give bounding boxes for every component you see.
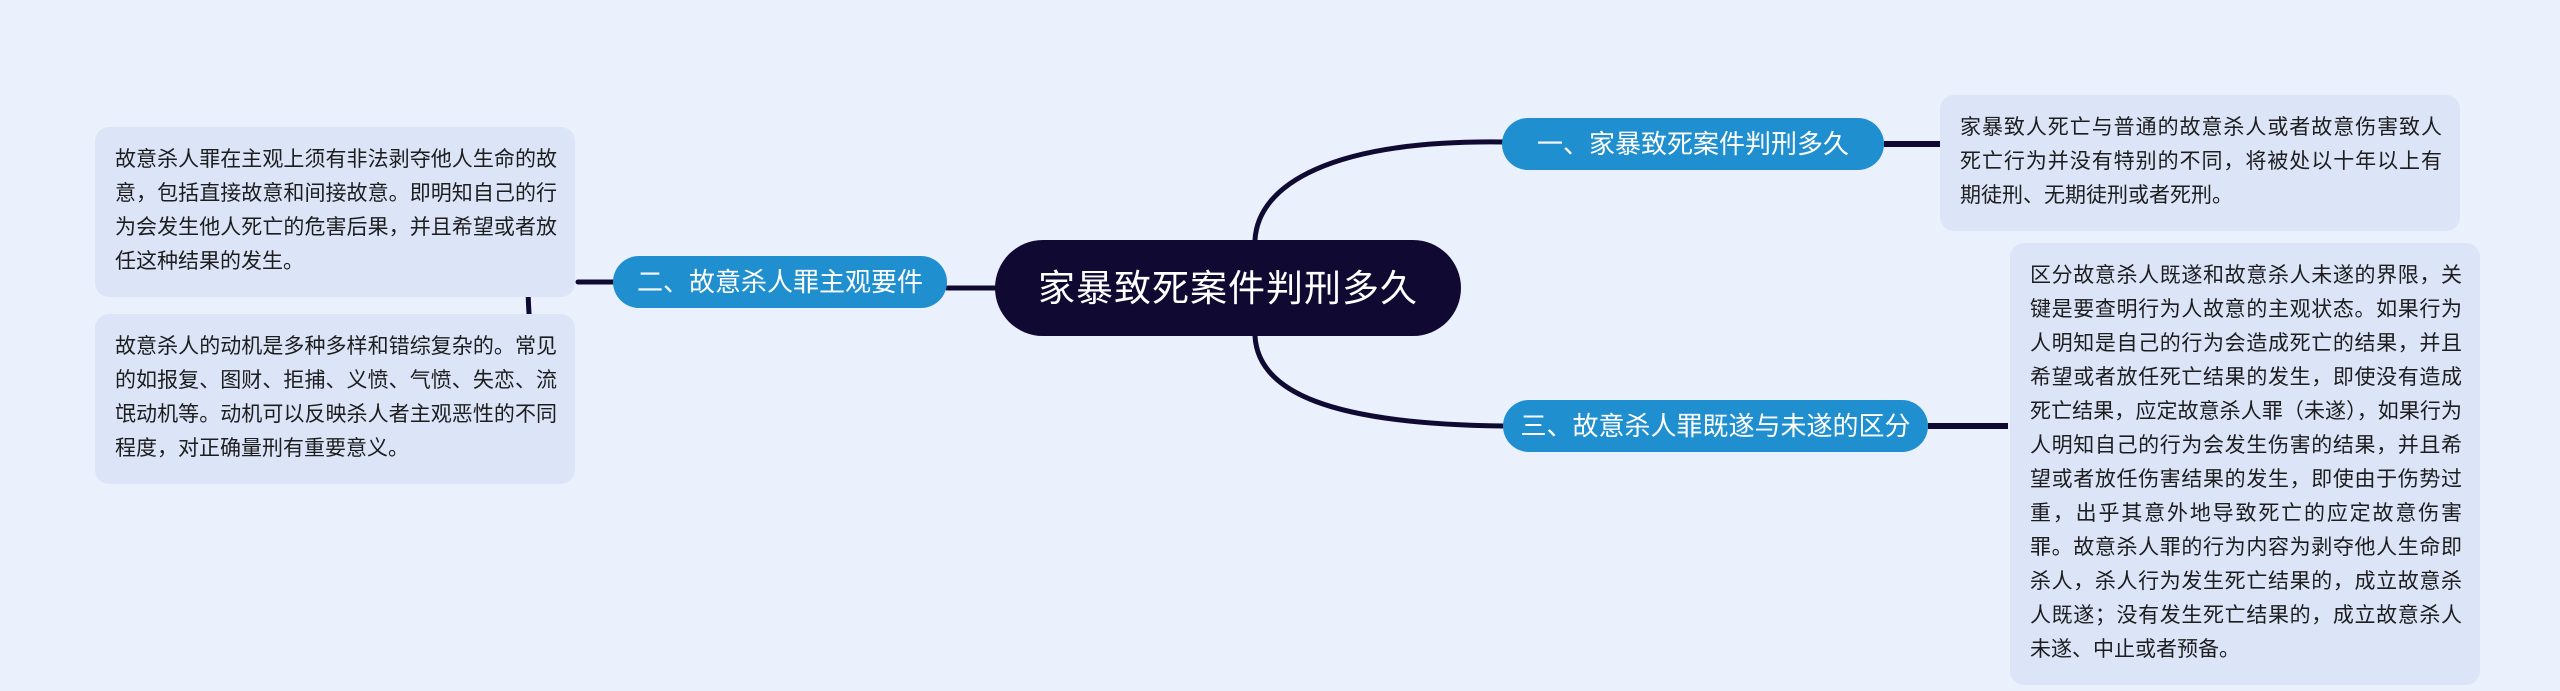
mindmap-canvas: 家暴致死案件判刑多久 一、家暴致死案件判刑多久 二、故意杀人罪主观要件 三、故意…: [0, 0, 2560, 691]
leaf-block-attempt-distinction[interactable]: 区分故意杀人既遂和故意杀人未遂的界限，关键是要查明行为人故意的主观状态。如果行为…: [2010, 243, 2480, 685]
root-node[interactable]: 家暴致死案件判刑多久: [995, 240, 1461, 336]
branch-node-1[interactable]: 一、家暴致死案件判刑多久: [1502, 118, 1884, 170]
leaf-block-sentencing[interactable]: 家暴致人死亡与普通的故意杀人或者故意伤害致人死亡行为并没有特别的不同，将被处以十…: [1940, 95, 2460, 231]
leaf-block-attempt-distinction-text: 区分故意杀人既遂和故意杀人未遂的界限，关键是要查明行为人故意的主观状态。如果行为…: [2030, 259, 2462, 667]
leaf-block-subjective-intent-text: 故意杀人罪在主观上须有非法剥夺他人生命的故意，包括直接故意和间接故意。即明知自己…: [115, 143, 557, 279]
root-node-label: 家暴致死案件判刑多久: [1038, 270, 1418, 307]
branch-node-2[interactable]: 二、故意杀人罪主观要件: [613, 256, 947, 308]
branch-node-1-label: 一、家暴致死案件判刑多久: [1537, 131, 1849, 157]
leaf-block-motive-text: 故意杀人的动机是多种多样和错综复杂的。常见的如报复、图财、拒捕、义愤、气愤、失恋…: [115, 330, 557, 466]
leaf-block-motive[interactable]: 故意杀人的动机是多种多样和错综复杂的。常见的如报复、图财、拒捕、义愤、气愤、失恋…: [95, 314, 575, 484]
connector-root-to-branch-top-right: [1255, 142, 1502, 240]
branch-node-3[interactable]: 三、故意杀人罪既遂与未遂的区分: [1503, 400, 1928, 452]
leaf-block-sentencing-text: 家暴致人死亡与普通的故意杀人或者故意伤害致人死亡行为并没有特别的不同，将被处以十…: [1960, 111, 2442, 213]
branch-node-3-label: 三、故意杀人罪既遂与未遂的区分: [1520, 413, 1910, 439]
branch-node-2-label: 二、故意杀人罪主观要件: [637, 269, 923, 295]
connector-root-to-branch-bottom-right: [1255, 336, 1503, 426]
leaf-block-subjective-intent[interactable]: 故意杀人罪在主观上须有非法剥夺他人生命的故意，包括直接故意和间接故意。即明知自己…: [95, 127, 575, 297]
